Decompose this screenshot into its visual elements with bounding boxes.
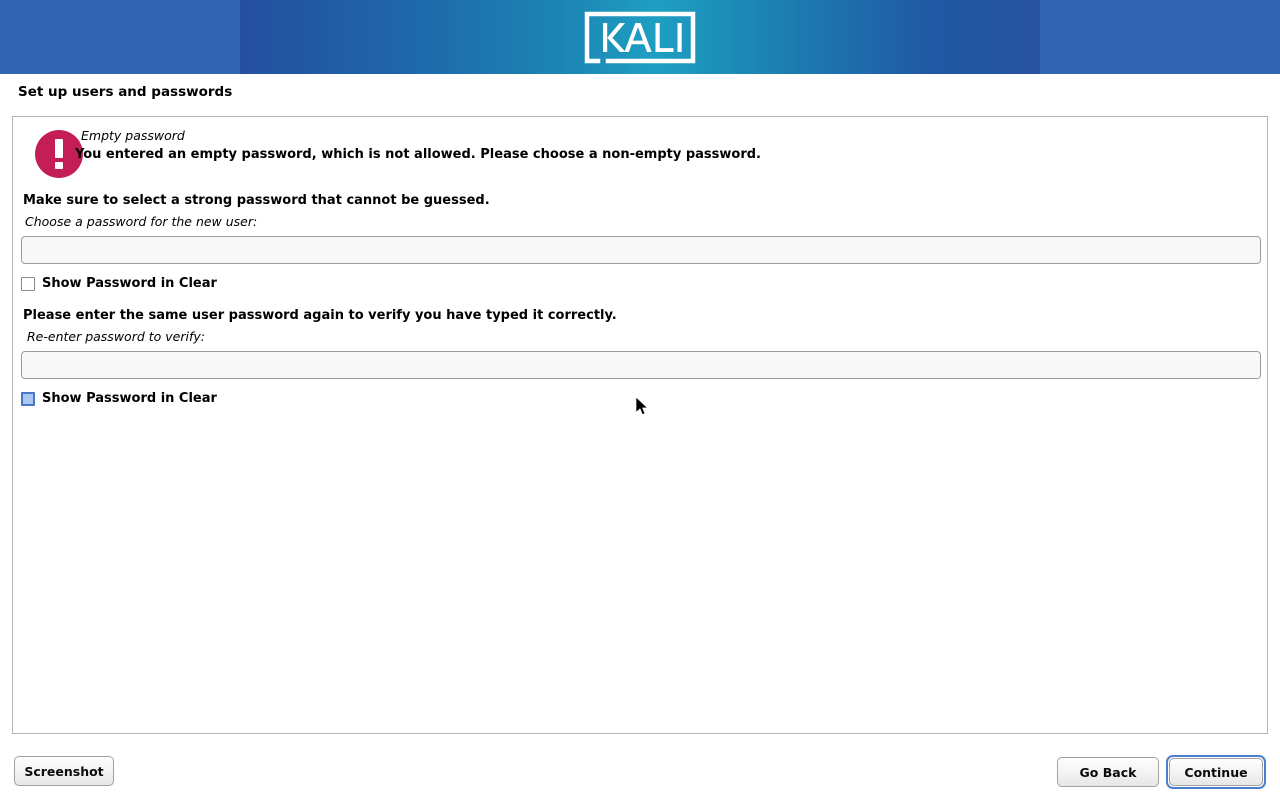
- continue-button[interactable]: Continue: [1169, 758, 1263, 786]
- verify-field-label: Re-enter password to verify:: [27, 329, 205, 344]
- screenshot-button[interactable]: Screenshot: [14, 756, 114, 786]
- error-message: You entered an empty password, which is …: [75, 147, 761, 162]
- show-password-checkbox-2[interactable]: Show Password in Clear: [21, 390, 217, 408]
- go-back-button[interactable]: Go Back: [1057, 757, 1159, 787]
- kali-logo-icon: [584, 11, 696, 64]
- page-title: Set up users and passwords: [18, 84, 232, 100]
- password-field-label: Choose a password for the new user:: [25, 214, 257, 229]
- continue-button-focus-ring: Continue: [1166, 755, 1266, 789]
- installer-screen: Set up users and passwords Empty passwor…: [0, 0, 1280, 800]
- show-password-label-1: Show Password in Clear: [42, 277, 217, 291]
- password-input[interactable]: [21, 236, 1261, 264]
- checkbox-box-unchecked-icon[interactable]: [21, 277, 35, 291]
- verify-password-note: Please enter the same user password agai…: [23, 308, 617, 323]
- checkbox-box-focused-icon[interactable]: [21, 392, 35, 406]
- exclamation-glyph: [55, 139, 63, 169]
- verify-password-input[interactable]: [21, 351, 1261, 379]
- show-password-label-2: Show Password in Clear: [42, 392, 217, 406]
- content-panel: Empty password You entered an empty pass…: [12, 116, 1268, 734]
- strong-password-note: Make sure to select a strong password th…: [23, 193, 490, 208]
- installer-banner: [0, 0, 1280, 74]
- show-password-checkbox-1[interactable]: Show Password in Clear: [21, 275, 217, 293]
- error-title: Empty password: [81, 128, 185, 143]
- error-banner: Empty password You entered an empty pass…: [13, 117, 1267, 187]
